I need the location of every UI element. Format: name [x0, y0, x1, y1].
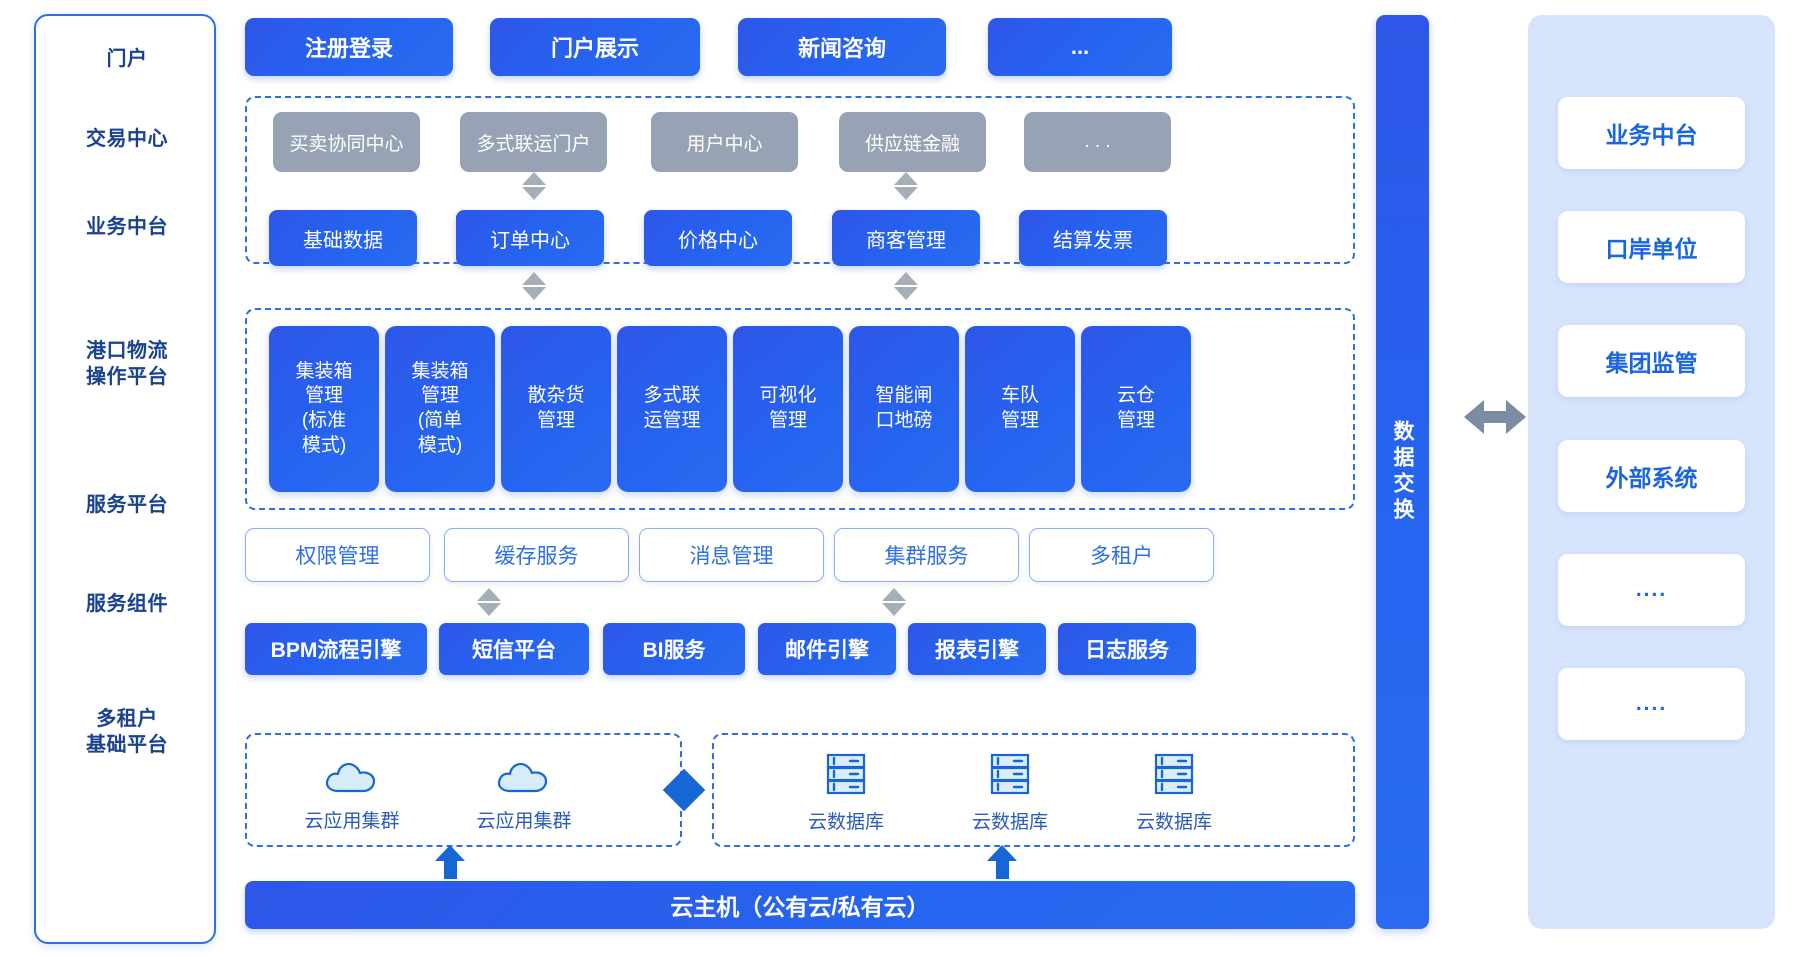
port-card-2[interactable]: 散杂货管理: [501, 326, 611, 492]
cloud-database-label: 云数据库: [781, 807, 911, 834]
port-card-6[interactable]: 车队管理: [965, 326, 1075, 492]
transaction-box-0[interactable]: 买卖协同中心: [273, 112, 420, 172]
updown-arrow-icon: [894, 172, 918, 200]
port-card-0[interactable]: 集装箱管理(标准模式): [269, 326, 379, 492]
portal-button-0[interactable]: 注册登录: [245, 18, 453, 76]
transaction-box-1[interactable]: 多式联运门户: [460, 112, 607, 172]
cloud-icon: [494, 781, 554, 802]
transaction-box-3[interactable]: 供应链金融: [839, 112, 986, 172]
portal-button-2[interactable]: 新闻咨询: [738, 18, 946, 76]
service-box-1[interactable]: 缓存服务: [444, 528, 629, 582]
external-system-card-0[interactable]: 业务中台: [1558, 97, 1745, 169]
business-box-3[interactable]: 商客管理: [832, 210, 980, 266]
cloud-cluster-item-1: 云应用集群: [459, 757, 589, 833]
updown-arrow-icon: [894, 272, 918, 300]
left-right-arrow-icon: [1464, 398, 1526, 436]
updown-arrow-icon: [882, 588, 906, 616]
legend-item-1: 交易中心: [36, 126, 218, 152]
component-box-0[interactable]: BPM流程引擎: [245, 623, 427, 675]
updown-arrow-icon: [477, 588, 501, 616]
cloud-cluster-label: 云应用集群: [459, 806, 589, 833]
cloud-cluster-label: 云应用集群: [287, 806, 417, 833]
service-box-2[interactable]: 消息管理: [639, 528, 824, 582]
port-card-3[interactable]: 多式联运管理: [617, 326, 727, 492]
updown-arrow-icon: [522, 272, 546, 300]
external-system-card-1[interactable]: 口岸单位: [1558, 211, 1745, 283]
transaction-box-4[interactable]: . . .: [1024, 112, 1171, 172]
component-box-2[interactable]: BI服务: [603, 623, 745, 675]
architecture-diagram: 门户交易中心业务中台港口物流操作平台服务平台服务组件多租户基础平台 注册登录门户…: [0, 0, 1805, 958]
service-box-3[interactable]: 集群服务: [834, 528, 1019, 582]
service-box-4[interactable]: 多租户: [1029, 528, 1214, 582]
cloud-database-label: 云数据库: [945, 807, 1075, 834]
business-box-4[interactable]: 结算发票: [1019, 210, 1167, 266]
component-box-3[interactable]: 邮件引擎: [758, 623, 896, 675]
legend-item-2: 业务中台: [36, 214, 218, 240]
port-card-5[interactable]: 智能闸口地磅: [849, 326, 959, 492]
upload-arrow-icon: [987, 845, 1017, 879]
cloud-icon: [322, 781, 382, 802]
cloud-database-label: 云数据库: [1109, 807, 1239, 834]
legend-item-0: 门户: [36, 46, 218, 72]
legend-item-6: 多租户基础平台: [36, 706, 218, 759]
port-card-4[interactable]: 可视化管理: [733, 326, 843, 492]
database-icon: [988, 782, 1032, 803]
cloud-host-bar[interactable]: 云主机（公有云/私有云）: [245, 881, 1355, 929]
main-column: 注册登录门户展示新闻咨询... 买卖协同中心多式联运门户用户中心供应链金融. .…: [245, 0, 1360, 958]
cloud-database-item-2: 云数据库: [1109, 752, 1239, 834]
legend-item-4: 服务平台: [36, 492, 218, 518]
service-box-0[interactable]: 权限管理: [245, 528, 430, 582]
database-icon: [1152, 782, 1196, 803]
external-systems-panel: 业务中台口岸单位集团监管外部系统........: [1528, 15, 1775, 929]
external-system-card-5[interactable]: ....: [1558, 668, 1745, 740]
port-card-7[interactable]: 云仓管理: [1081, 326, 1191, 492]
component-box-4[interactable]: 报表引擎: [908, 623, 1046, 675]
portal-button-1[interactable]: 门户展示: [490, 18, 700, 76]
data-exchange-bar[interactable]: 数据交换: [1376, 15, 1429, 929]
business-box-1[interactable]: 订单中心: [456, 210, 604, 266]
upload-arrow-icon: [435, 845, 465, 879]
portal-button-3[interactable]: ...: [988, 18, 1172, 76]
external-system-card-4[interactable]: ....: [1558, 554, 1745, 626]
port-card-1[interactable]: 集装箱管理(简单模式): [385, 326, 495, 492]
data-exchange-label: 数据交换: [1392, 420, 1413, 524]
updown-arrow-icon: [522, 172, 546, 200]
cloud-database-item-1: 云数据库: [945, 752, 1075, 834]
database-icon: [824, 782, 868, 803]
external-system-card-2[interactable]: 集团监管: [1558, 325, 1745, 397]
legend-column: 门户交易中心业务中台港口物流操作平台服务平台服务组件多租户基础平台: [34, 14, 216, 944]
legend-item-3: 港口物流操作平台: [36, 338, 218, 391]
business-box-0[interactable]: 基础数据: [269, 210, 417, 266]
portal-row: 注册登录门户展示新闻咨询...: [245, 18, 1360, 76]
cloud-cluster-item-0: 云应用集群: [287, 757, 417, 833]
legend-item-5: 服务组件: [36, 591, 218, 617]
cloud-database-item-0: 云数据库: [781, 752, 911, 834]
component-box-1[interactable]: 短信平台: [439, 623, 589, 675]
external-system-card-3[interactable]: 外部系统: [1558, 440, 1745, 512]
transaction-box-2[interactable]: 用户中心: [651, 112, 798, 172]
business-box-2[interactable]: 价格中心: [644, 210, 792, 266]
component-box-5[interactable]: 日志服务: [1058, 623, 1196, 675]
